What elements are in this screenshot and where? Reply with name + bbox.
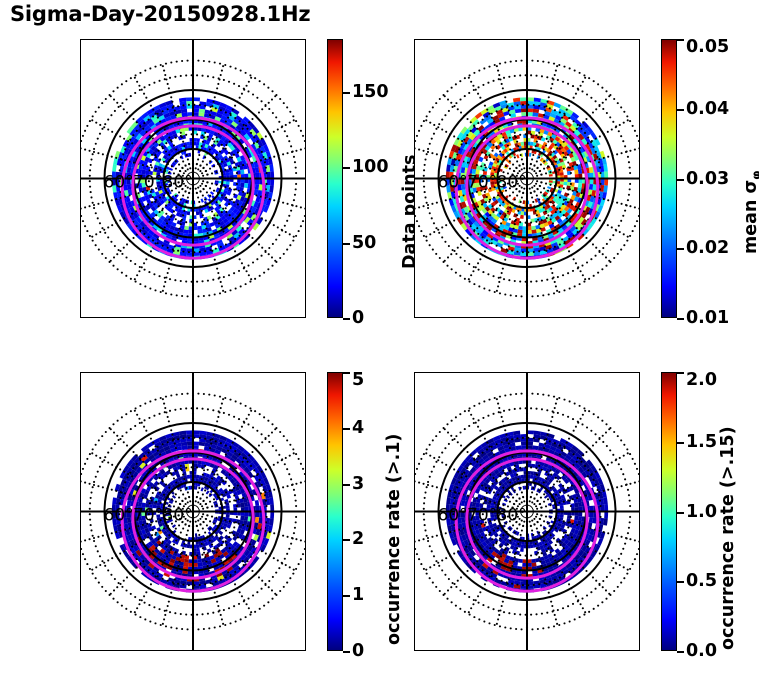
colorbar-tick-label: 0 [352,641,364,661]
colorbar-tick [677,109,684,111]
colorbar-tick [343,372,350,374]
colorbar-tick [677,179,684,181]
polar-plot-occurrence-rate-015: 60°70°80° [414,372,640,651]
colorbar-tick-label: 5 [352,370,364,390]
colorbar-tick [343,539,350,541]
colorbar-tick-label: 50 [352,233,376,253]
colorbar-tick [677,581,684,583]
polar-plot-occurrence-rate-01: 60°70°80° [80,372,306,651]
colorbar-gradient [661,372,677,651]
radial-tick-label: 60° [104,506,134,526]
colorbar-gradient [327,372,343,651]
colorbar-tick-label: 0.01 [686,308,729,328]
radial-tick-label: 70° [467,506,497,526]
colorbar-tick-label: 2.0 [686,370,717,390]
colorbar-tick [343,428,350,430]
colorbar-tick-label: 0.03 [686,169,729,189]
panel-occurrence-rate-015: 60°70°80° [414,372,640,651]
colorbar-tick [677,512,684,514]
radial-tick-label: 80° [497,506,527,526]
colorbar-title: occurrence rate (>.15) [718,426,738,650]
radial-tick-label: 80° [163,173,193,193]
colorbar-tick [343,651,350,653]
colorbar-tick [677,372,684,374]
colorbar-tick [677,318,684,320]
radial-tick-label: 80° [497,173,527,193]
colorbar-tick-label: 150 [352,82,389,102]
colorbar-tick-label: 1.5 [686,432,717,452]
colorbar-tick [677,39,684,41]
panel-mean-sigma-phi: 60°70°80° [414,39,640,318]
colorbar-tick [343,167,350,169]
radial-tick-label: 70° [133,173,163,193]
colorbar-mean-sigma-phi: 0.01 0.02 0.03 0.04 0.05 mean σφ [661,39,677,318]
panel-occurrence-rate-01: 60°70°80° [80,372,306,651]
colorbar-tick [343,318,350,320]
colorbar-tick-label: 100 [352,157,389,177]
colorbar-tick-label: 0 [352,308,364,328]
colorbar-tick-label: 3 [352,474,364,494]
figure-root: Sigma-Day-20150928.1Hz 60°70°80° 0 50 10… [0,0,759,674]
colorbar-occurrence-rate-01: 0 1 2 3 4 5 occurrence rate (>.1) [327,372,343,651]
polar-plot-data-points: 60°70°80° [80,39,306,318]
radial-tick-label: 70° [467,173,497,193]
colorbar-tick [343,484,350,486]
radial-tick-label: 80° [163,506,193,526]
radial-tick-label: 60° [438,506,468,526]
colorbar-tick [343,243,350,245]
colorbar-tick [677,651,684,653]
colorbar-title-sub: φ [750,171,759,180]
colorbar-tick-label: 0.04 [686,99,729,119]
colorbar-tick-label: 2 [352,529,364,549]
colorbar-tick [677,248,684,250]
colorbar-tick [343,595,350,597]
colorbar-tick [343,92,350,94]
colorbar-tick-label: 0.0 [686,641,717,661]
panel-data-points: 60°70°80° [80,39,306,318]
colorbar-data-points: 0 50 100 150 Data points [327,39,343,318]
colorbar-tick-label: 1 [352,585,364,605]
colorbar-title: mean σφ [741,171,759,254]
polar-plot-mean-sigma-phi: 60°70°80° [414,39,640,318]
colorbar-title-main: mean σ [741,180,759,254]
radial-tick-label: 60° [438,173,468,193]
colorbar-tick-label: 0.05 [686,37,729,57]
colorbar-tick [677,442,684,444]
radial-tick-label: 60° [104,173,134,193]
colorbar-tick-label: 4 [352,418,364,438]
colorbar-occurrence-rate-015: 0.0 0.5 1.0 1.5 2.0 occurrence rate (>.1… [661,372,677,651]
colorbar-tick-label: 0.5 [686,571,717,591]
colorbar-tick-label: 0.02 [686,238,729,258]
colorbar-tick-label: 1.0 [686,502,717,522]
colorbar-title: occurrence rate (>.1) [384,434,404,645]
page-title: Sigma-Day-20150928.1Hz [10,2,310,26]
colorbar-gradient [661,39,677,318]
colorbar-gradient [327,39,343,318]
radial-tick-label: 70° [133,506,163,526]
